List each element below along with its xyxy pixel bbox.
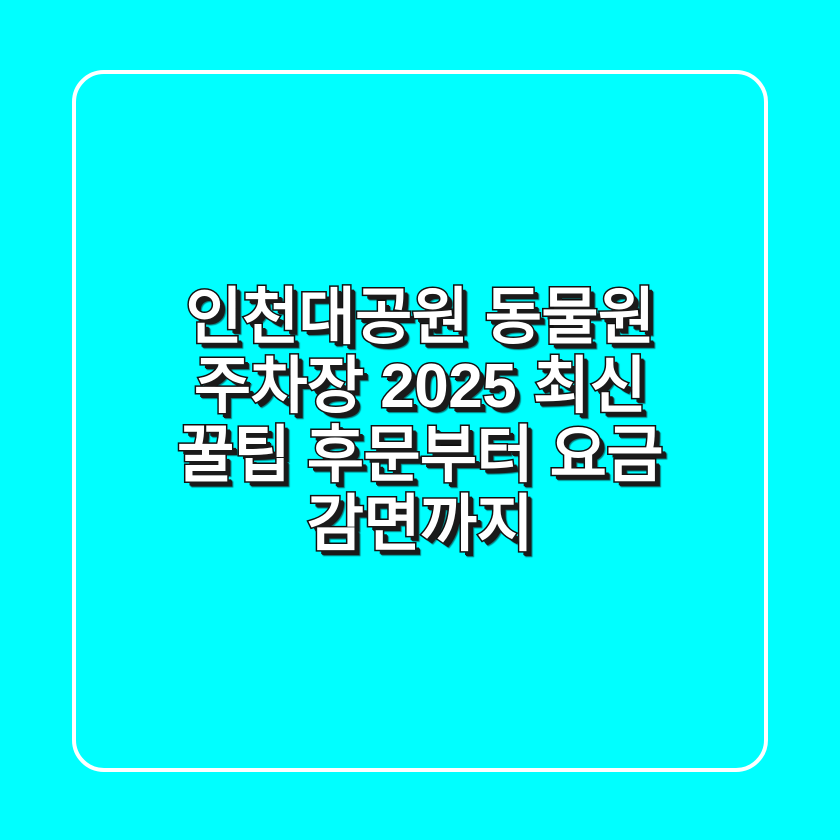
headline-line-4: 감면까지 (90, 490, 750, 559)
thumbnail-card: 인천대공원 동물원 주차장 2025 최신 꿀팁 후문부터 요금 감면까지 (0, 0, 840, 840)
headline-block: 인천대공원 동물원 주차장 2025 최신 꿀팁 후문부터 요금 감면까지 (72, 70, 768, 772)
headline-line-1: 인천대공원 동물원 (90, 283, 750, 352)
headline-line-3: 꿀팁 후문부터 요금 (90, 421, 750, 490)
headline-line-2: 주차장 2025 최신 (90, 352, 750, 421)
